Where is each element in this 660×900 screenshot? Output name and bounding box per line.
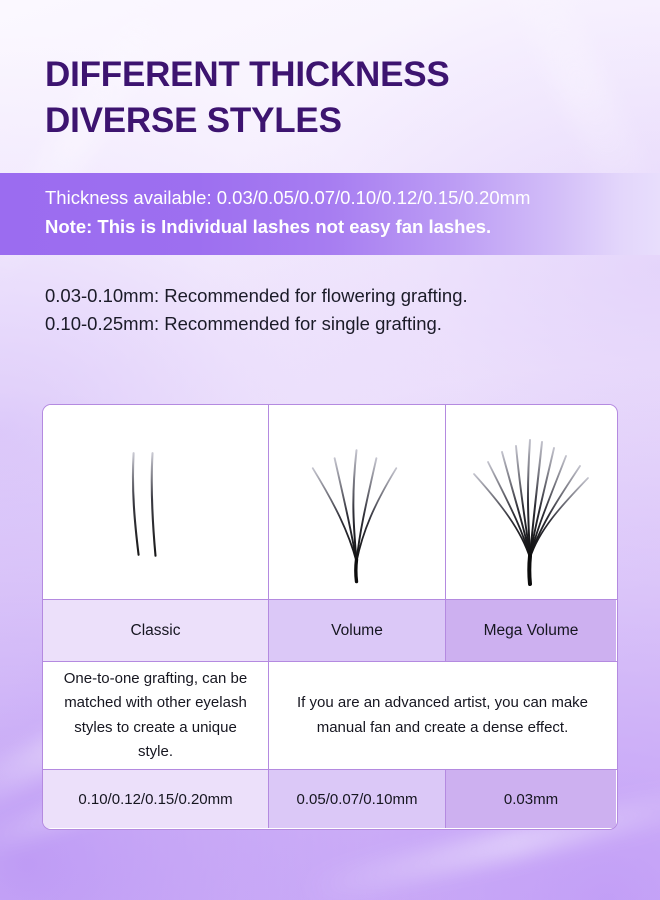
table-row-thickness: 0.10/0.12/0.15/0.20mm 0.05/0.07/0.10mm 0… [43, 770, 617, 828]
style-name-volume: Volume [331, 622, 383, 640]
thickness-volume: 0.05/0.07/0.10mm [297, 791, 418, 808]
thickness-cell-volume: 0.05/0.07/0.10mm [269, 770, 446, 828]
description-cell-classic: One-to-one grafting, can be matched with… [43, 662, 269, 769]
recommendation-single-grafting: 0.10-0.25mm: Recommended for single graf… [45, 310, 660, 338]
style-name-mega-volume: Mega Volume [484, 622, 579, 640]
recommendation-flowering-grafting: 0.03-0.10mm: Recommended for flowering g… [45, 282, 660, 310]
description-volume-mega: If you are an advanced artist, you can m… [285, 691, 600, 740]
mega-volume-illustration-cell [446, 405, 616, 599]
product-infographic: DIFFERENT THICKNESS DIVERSE STYLES Thick… [0, 0, 660, 900]
style-name-cell-volume: Volume [269, 600, 446, 661]
classic-illustration-cell [43, 405, 269, 599]
thickness-cell-classic: 0.10/0.12/0.15/0.20mm [43, 770, 269, 828]
table-row-style-names: Classic Volume Mega Volume [43, 600, 617, 662]
recommendation-list: 0.03-0.10mm: Recommended for flowering g… [0, 255, 660, 338]
page-title-line-2: DIVERSE STYLES [45, 98, 618, 144]
table-row-descriptions: One-to-one grafting, can be matched with… [43, 662, 617, 770]
description-classic: One-to-one grafting, can be matched with… [59, 667, 252, 764]
mega-volume-fan-icon [446, 406, 616, 599]
thickness-highlight-band: Thickness available: 0.03/0.05/0.07/0.10… [0, 173, 660, 255]
volume-fan-icon [269, 406, 445, 599]
style-name-cell-mega-volume: Mega Volume [446, 600, 616, 661]
description-cell-volume-mega: If you are an advanced artist, you can m… [269, 662, 616, 769]
thickness-mega-volume: 0.03mm [504, 791, 558, 808]
page-title-line-1: DIFFERENT THICKNESS [45, 52, 618, 98]
style-name-cell-classic: Classic [43, 600, 269, 661]
lash-style-comparison-table: Classic Volume Mega Volume One-to-one gr… [42, 404, 618, 830]
thickness-available-text: Thickness available: 0.03/0.05/0.07/0.10… [45, 185, 660, 212]
thickness-cell-mega-volume: 0.03mm [446, 770, 616, 828]
page-title: DIFFERENT THICKNESS DIVERSE STYLES [0, 0, 660, 143]
style-name-classic: Classic [131, 622, 181, 640]
classic-lashes-icon [43, 406, 268, 599]
table-row-illustrations [43, 405, 617, 600]
thickness-classic: 0.10/0.12/0.15/0.20mm [78, 791, 232, 808]
product-note-text: Note: This is Individual lashes not easy… [45, 214, 660, 241]
volume-illustration-cell [269, 405, 446, 599]
